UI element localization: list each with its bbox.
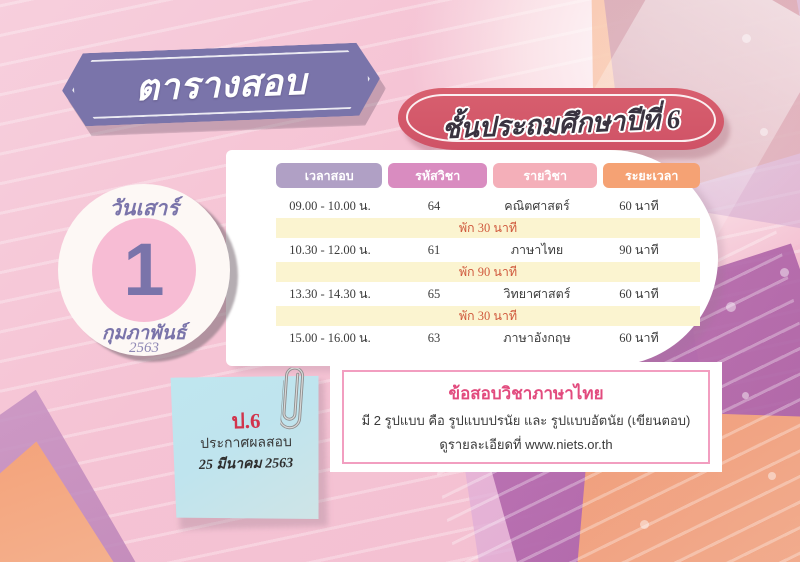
- column-header-code: รหัสวิชา: [388, 163, 487, 188]
- bokeh-dot: [760, 128, 768, 136]
- cell-code: 63: [384, 331, 484, 346]
- cell-code: 61: [384, 243, 484, 258]
- poster-canvas: ตารางสอบ ชั้นประถมศึกษาปีที่ 6 วันเสาร์ …: [0, 0, 800, 562]
- table-row-break: พัก 90 นาที: [276, 262, 700, 282]
- cell-subject: ภาษาอังกฤษ: [484, 328, 590, 348]
- table-row-break: พัก 30 นาที: [276, 306, 700, 326]
- info-line-2: ดูรายละเอียดที่ www.niets.or.th: [439, 434, 612, 455]
- bokeh-dot: [726, 302, 736, 312]
- info-line-1: มี 2 รูปแบบ คือ รูปแบบปรนัย และ รูปแบบอั…: [362, 410, 691, 431]
- poster-title: ตารางสอบ: [61, 42, 382, 127]
- table-row-break: พัก 30 นาที: [276, 218, 700, 238]
- table-row: 09.00 - 10.00 น.64คณิตศาสตร์60 นาที: [276, 194, 700, 218]
- column-header-duration: ระยะเวลา: [603, 163, 700, 188]
- date-year: 2563: [58, 340, 230, 357]
- bokeh-dot: [742, 392, 749, 399]
- cell-subject: คณิตศาสตร์: [484, 196, 590, 216]
- bokeh-dot: [742, 34, 751, 43]
- cell-code: 64: [384, 199, 484, 214]
- break-label: พัก 30 นาที: [459, 306, 517, 326]
- note-result-date: 25 มีนาคม 2563: [172, 451, 320, 476]
- cell-time: 10.30 - 12.00 น.: [276, 240, 384, 260]
- cell-subject: ภาษาไทย: [484, 240, 590, 260]
- paperclip-icon: [280, 367, 308, 431]
- cell-duration: 60 นาที: [590, 196, 688, 216]
- cell-duration: 60 นาที: [590, 328, 688, 348]
- cell-duration: 90 นาที: [590, 240, 688, 260]
- break-label: พัก 90 นาที: [459, 262, 517, 282]
- bokeh-dot: [768, 472, 776, 480]
- bokeh-dot: [780, 268, 789, 277]
- table-row: 10.30 - 12.00 น.61ภาษาไทย90 นาที: [276, 238, 700, 262]
- table-row: 15.00 - 16.00 น.63ภาษาอังกฤษ60 นาที: [276, 326, 700, 350]
- column-header-time: เวลาสอบ: [276, 163, 382, 188]
- bokeh-dot: [640, 520, 649, 529]
- info-panel: ข้อสอบวิชาภาษาไทย มี 2 รูปแบบ คือ รูปแบบ…: [342, 370, 710, 464]
- schedule-table-header: เวลาสอบ รหัสวิชา รายวิชา ระยะเวลา: [276, 163, 700, 188]
- break-label: พัก 30 นาที: [459, 218, 517, 238]
- table-row: 13.30 - 14.30 น.65วิทยาศาสตร์60 นาที: [276, 282, 700, 306]
- cell-subject: วิทยาศาสตร์: [484, 284, 590, 304]
- date-day-number: 1: [92, 218, 196, 322]
- cell-time: 13.30 - 14.30 น.: [276, 284, 384, 304]
- cell-code: 65: [384, 287, 484, 302]
- info-title: ข้อสอบวิชาภาษาไทย: [448, 380, 603, 407]
- cell-duration: 60 นาที: [590, 284, 688, 304]
- schedule-table-body: 09.00 - 10.00 น.64คณิตศาสตร์60 นาทีพัก 3…: [276, 194, 700, 350]
- cell-time: 15.00 - 16.00 น.: [276, 328, 384, 348]
- column-header-subject: รายวิชา: [493, 163, 597, 188]
- cell-time: 09.00 - 10.00 น.: [276, 196, 384, 216]
